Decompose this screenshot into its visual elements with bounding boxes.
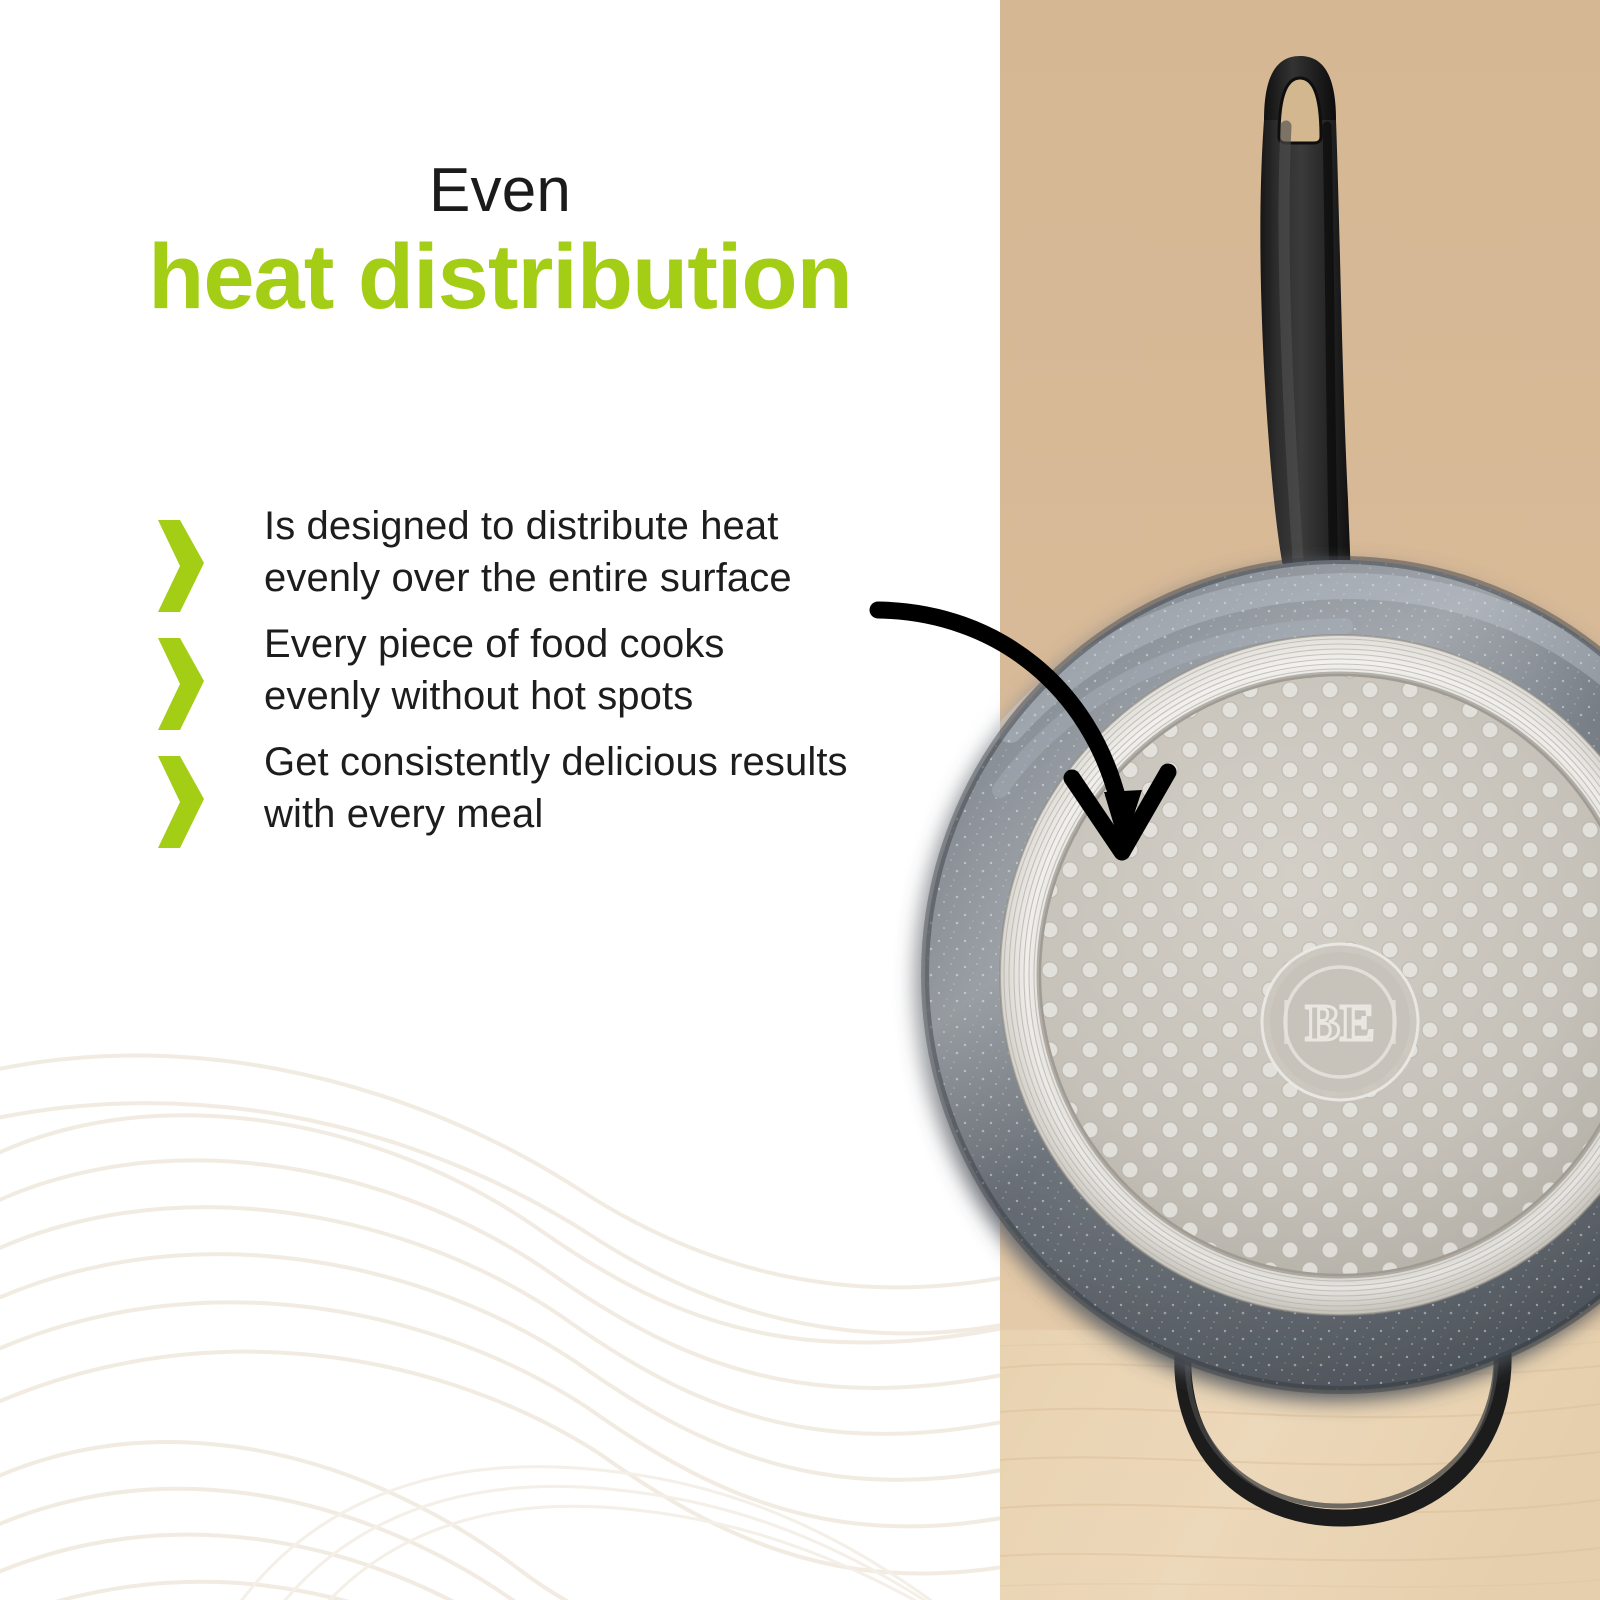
product-feature-banner: Even heat distribution Is designed to di… [0,0,1600,1600]
curved-arrow-icon [878,610,1168,852]
annotation-layer [0,0,1600,1600]
